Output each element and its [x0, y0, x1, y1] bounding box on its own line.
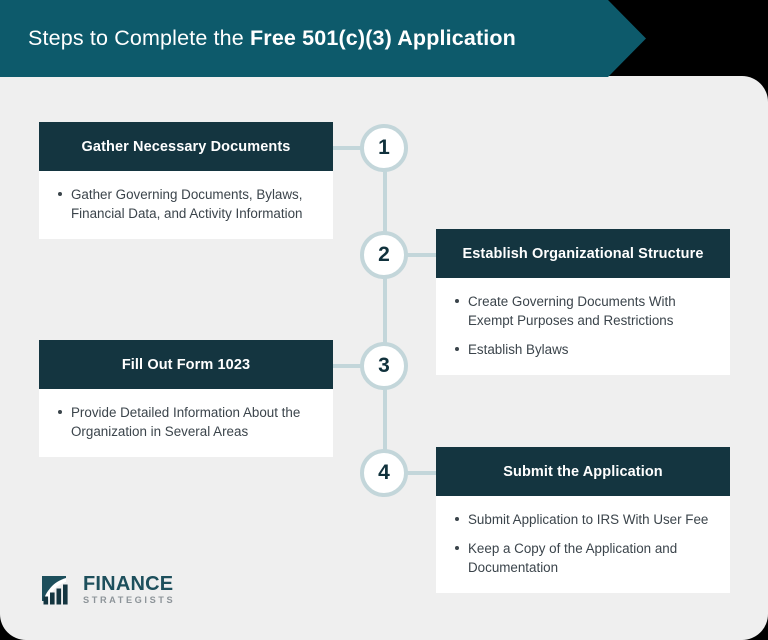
list-item: Gather Governing Documents, Bylaws, Fina… — [71, 185, 315, 223]
step-card-2: Establish Organizational Structure Creat… — [436, 229, 730, 375]
content-card-top-left-fill — [0, 76, 340, 106]
step-card-3: Fill Out Form 1023 Provide Detailed Info… — [39, 340, 333, 457]
brand-logo: FINANCE STRATEGISTS — [40, 574, 175, 606]
list-item: Keep a Copy of the Application and Docum… — [468, 539, 712, 577]
list-item: Submit Application to IRS With User Fee — [468, 510, 712, 529]
step-number-badge-4: 4 — [360, 449, 408, 497]
step-title-2: Establish Organizational Structure — [436, 229, 730, 278]
step-card-1: Gather Necessary Documents Gather Govern… — [39, 122, 333, 239]
page-title: Steps to Complete the Free 501(c)(3) App… — [0, 26, 516, 51]
step-body-2: Create Governing Documents With Exempt P… — [436, 278, 730, 375]
list-item: Establish Bylaws — [468, 340, 712, 359]
step-number-badge-3: 3 — [360, 342, 408, 390]
finance-strategists-bar-chart-icon — [40, 574, 76, 606]
page-title-regular: Steps to Complete the — [28, 26, 250, 50]
list-item: Provide Detailed Information About the O… — [71, 403, 315, 441]
brand-name: FINANCE — [83, 574, 175, 594]
step-body-3: Provide Detailed Information About the O… — [39, 389, 333, 457]
page-title-strong: Free 501(c)(3) Application — [250, 26, 516, 50]
brand-subtitle: STRATEGISTS — [83, 596, 175, 605]
list-item: Create Governing Documents With Exempt P… — [468, 292, 712, 330]
brand-logo-text: FINANCE STRATEGISTS — [83, 574, 175, 605]
step-number-badge-1: 1 — [360, 124, 408, 172]
step-number-badge-2: 2 — [360, 231, 408, 279]
timeline-spine — [383, 148, 387, 474]
header-banner: Steps to Complete the Free 501(c)(3) App… — [0, 0, 646, 77]
infographic-canvas: Steps to Complete the Free 501(c)(3) App… — [0, 0, 768, 640]
step-body-1: Gather Governing Documents, Bylaws, Fina… — [39, 171, 333, 239]
step-bullet-list-4: Submit Application to IRS With User Fee … — [450, 510, 712, 577]
step-bullet-list-1: Gather Governing Documents, Bylaws, Fina… — [53, 185, 315, 223]
step-title-1: Gather Necessary Documents — [39, 122, 333, 171]
step-title-4: Submit the Application — [436, 447, 730, 496]
step-bullet-list-2: Create Governing Documents With Exempt P… — [450, 292, 712, 359]
step-card-4: Submit the Application Submit Applicatio… — [436, 447, 730, 593]
step-title-3: Fill Out Form 1023 — [39, 340, 333, 389]
step-bullet-list-3: Provide Detailed Information About the O… — [53, 403, 315, 441]
step-body-4: Submit Application to IRS With User Fee … — [436, 496, 730, 593]
